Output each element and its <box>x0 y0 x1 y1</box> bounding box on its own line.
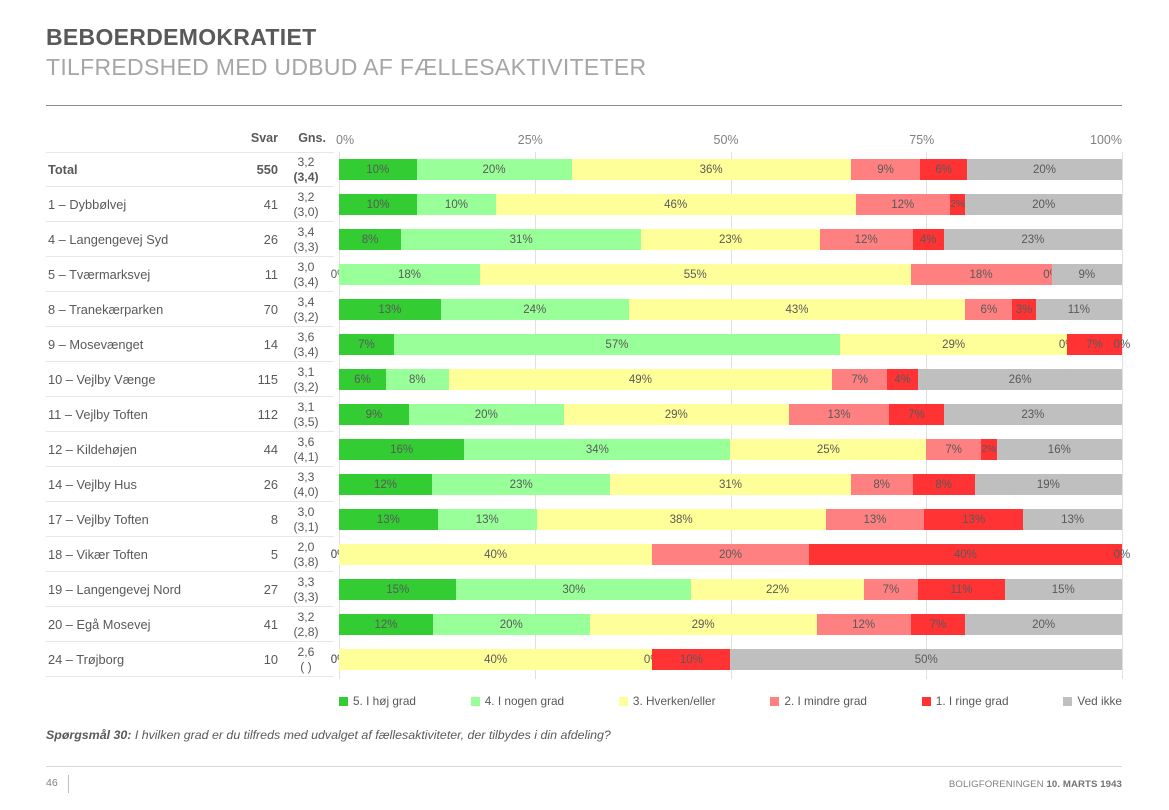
bar-segment-label: 36% <box>700 164 723 176</box>
stacked-bar: 13%13%38%13%13%13% <box>339 509 1122 530</box>
row-label: 11 – Vejlby Toften <box>48 397 230 432</box>
x-axis-tick-0: 0% <box>336 133 354 147</box>
bar-segment-s3: 46% <box>496 194 856 215</box>
row-label: 18 – Vikær Toften <box>48 537 230 572</box>
bar-segment-s5: 7% <box>339 334 394 355</box>
row-response-count: 10 <box>230 642 278 677</box>
bar-segment-label: 16% <box>1048 444 1071 456</box>
chart-rows: Total5503,2(3,4)10%20%36%9%6%20%1 – Dybb… <box>0 152 1169 677</box>
row-response-count: 26 <box>230 222 278 257</box>
row-average-current: 3,2 <box>298 155 315 169</box>
bar-segment-s3: 43% <box>629 299 966 320</box>
bar-segment-svedikke: 9% <box>1052 264 1122 285</box>
question-number: Spørgsmål 30: <box>46 728 131 742</box>
stacked-bar: 6%8%49%7%4%26% <box>339 369 1122 390</box>
bar-segment-label: 15% <box>1052 584 1075 596</box>
bar-segment-s1: 3% <box>1012 299 1035 320</box>
row-label: 5 – Tværmarksvej <box>48 257 230 292</box>
bar-segment-label: 10% <box>680 654 703 666</box>
bar-segment-label: 20% <box>500 619 523 631</box>
x-axis-tick-25: 25% <box>518 133 543 147</box>
bar-segment-s4: 20% <box>417 159 572 180</box>
page-number: 46 <box>46 777 58 789</box>
bar-segment-s1: 10% <box>652 649 730 670</box>
row-average-current: 3,4 <box>298 295 315 309</box>
row-average-previous: (2,8) <box>293 625 318 639</box>
row-average-current: 3,3 <box>298 575 315 589</box>
bar-segment-s5: 6% <box>339 369 386 390</box>
row-label: 19 – Langengevej Nord <box>48 572 230 607</box>
row-average: 3,2(2,8) <box>286 607 326 642</box>
bar-segment-s3: 40% <box>339 544 652 565</box>
bar-segment-label: 3% <box>1016 304 1033 316</box>
bar-segment-s3: 22% <box>691 579 863 600</box>
row-average-previous: (3,3) <box>293 590 318 604</box>
legend-label: 5. I høj grad <box>353 694 416 708</box>
row-average: 3,0(3,1) <box>286 502 326 537</box>
bar-segment-s4: 13% <box>438 509 537 530</box>
row-average-current: 3,6 <box>298 330 315 344</box>
row-label: 9 – Mosevænget <box>48 327 230 362</box>
bar-segment-label: 20% <box>1032 199 1055 211</box>
row-label: 1 – Dybbølvej <box>48 187 230 222</box>
bar-segment-label: 7% <box>930 619 947 631</box>
row-response-count: 70 <box>230 292 278 327</box>
row-average-current: 3,0 <box>298 260 315 274</box>
bar-segment-label: 30% <box>562 584 585 596</box>
bar-segment-s3: 31% <box>610 474 850 495</box>
stacked-bar: 10%10%46%12%2%20% <box>339 194 1122 215</box>
bar-segment-label: 34% <box>586 444 609 456</box>
bar-segment-svedikke: 23% <box>944 404 1122 425</box>
chart-legend: 5. I høj grad4. I nogen grad3. Hverken/e… <box>339 694 1122 708</box>
row-average-previous: (3,2) <box>293 380 318 394</box>
bar-segment-s1: 11% <box>918 579 1004 600</box>
row-average-current: 3,1 <box>298 365 315 379</box>
footer-brand-light: BOLIGFORENINGEN <box>949 779 1047 790</box>
stacked-bar: 0%0%40%0%10%50% <box>339 649 1122 670</box>
table-row: 24 – Trøjborg102,6( )0%0%40%0%10%50% <box>0 642 1169 677</box>
bar-segment-s5: 10% <box>339 159 417 180</box>
stacked-bar: 8%31%23%12%4%23% <box>339 229 1122 250</box>
bar-segment-s3: 29% <box>564 404 789 425</box>
table-row: 11 – Vejlby Toften1123,1(3,5)9%20%29%13%… <box>0 397 1169 432</box>
bar-segment-s5: 15% <box>339 579 456 600</box>
bar-segment-s4: 20% <box>409 404 564 425</box>
row-response-count: 112 <box>230 397 278 432</box>
bar-segment-s1: 40% <box>809 544 1122 565</box>
bar-segment-s4: 24% <box>441 299 629 320</box>
bar-segment-label: 25% <box>817 444 840 456</box>
bar-segment-label: 49% <box>629 374 652 386</box>
row-response-count: 14 <box>230 327 278 362</box>
bar-segment-s2: 12% <box>820 229 913 250</box>
bar-segment-label: 11% <box>950 584 972 596</box>
row-average-current: 3,3 <box>298 470 315 484</box>
row-label: 8 – Tranekærparken <box>48 292 230 327</box>
bar-segment-label: 11% <box>1068 304 1090 316</box>
bar-segment-label: 13% <box>828 409 851 421</box>
row-response-count: 115 <box>230 362 278 397</box>
bar-segment-label: 23% <box>1021 234 1044 246</box>
legend-label: 2. I mindre grad <box>784 694 867 708</box>
row-average-previous: (3,4) <box>293 275 318 289</box>
bar-segment-s4: 23% <box>432 474 610 495</box>
bar-segment-label: 7% <box>851 374 868 386</box>
bar-segment-label: 12% <box>855 234 878 246</box>
bar-segment-svedikke: 20% <box>965 194 1122 215</box>
column-header-gns: Gns. <box>288 131 326 145</box>
legend-item[interactable]: Ved ikke <box>1063 694 1122 708</box>
bar-segment-label: 7% <box>908 409 925 421</box>
bar-segment-svedikke: 11% <box>1036 299 1122 320</box>
row-average: 2,6( ) <box>286 642 326 677</box>
bar-segment-label: 6% <box>935 164 952 176</box>
bar-segment-label: 9% <box>877 164 894 176</box>
row-response-count: 41 <box>230 187 278 222</box>
bar-segment-label: 6% <box>981 304 998 316</box>
bar-segment-label: 9% <box>366 409 383 421</box>
bar-segment-s3: 38% <box>537 509 826 530</box>
bar-segment-s5: 12% <box>339 474 432 495</box>
bar-segment-s4: 18% <box>339 264 480 285</box>
bar-segment-label: 29% <box>692 619 715 631</box>
table-row: 12 – Kildehøjen443,6(4,1)16%34%25%7%2%16… <box>0 432 1169 467</box>
row-label: 12 – Kildehøjen <box>48 432 230 467</box>
row-average-previous: (3,0) <box>293 205 318 219</box>
bar-segment-label: 38% <box>670 514 693 526</box>
footer-vertical-rule <box>68 775 69 793</box>
bar-segment-label: 13% <box>476 514 499 526</box>
row-response-count: 41 <box>230 607 278 642</box>
question-footnote: Spørgsmål 30: I hvilken grad er du tilfr… <box>46 728 611 742</box>
table-row: 17 – Vejlby Toften83,0(3,1)13%13%38%13%1… <box>0 502 1169 537</box>
bar-segment-label: 7% <box>945 444 962 456</box>
bar-segment-label: 23% <box>719 234 742 246</box>
bar-segment-label: 8% <box>935 479 952 491</box>
bar-segment-label: 23% <box>1021 409 1044 421</box>
bar-segment-s2: 7% <box>832 369 887 390</box>
row-average-previous: (3,1) <box>293 520 318 534</box>
bar-segment-s4: 30% <box>456 579 691 600</box>
row-average: 3,4(3,2) <box>286 292 326 327</box>
bar-segment-label: 31% <box>719 479 742 491</box>
bar-segment-s3: 36% <box>572 159 851 180</box>
bar-segment-label: 16% <box>390 444 413 456</box>
bar-segment-svedikke: 15% <box>1005 579 1122 600</box>
bar-segment-svedikke: 20% <box>967 159 1122 180</box>
question-text: I hvilken grad er du tilfreds med udvalg… <box>131 728 610 742</box>
bar-segment-s3: 40% <box>339 649 652 670</box>
row-response-count: 26 <box>230 467 278 502</box>
legend-item[interactable]: 4. I nogen grad <box>471 694 564 708</box>
table-row: 4 – Langengevej Syd263,4(3,3)8%31%23%12%… <box>0 222 1169 257</box>
bar-segment-label: 15% <box>386 584 409 596</box>
bar-segment-s3: 23% <box>641 229 819 250</box>
row-average-current: 3,2 <box>298 190 315 204</box>
row-average: 3,1(3,2) <box>286 362 326 397</box>
bar-segment-label: 29% <box>665 409 688 421</box>
bar-segment-label: 55% <box>684 269 707 281</box>
row-average: 3,2(3,0) <box>286 187 326 222</box>
footer-brand-bold: 10. MARTS 1943 <box>1046 779 1122 790</box>
bar-segment-s5: 10% <box>339 194 417 215</box>
bar-segment-label: 13% <box>378 304 401 316</box>
table-row: Total5503,2(3,4)10%20%36%9%6%20% <box>0 152 1169 187</box>
bar-segment-s5: 13% <box>339 299 441 320</box>
stacked-bar: 15%30%22%7%11%15% <box>339 579 1122 600</box>
row-average: 3,1(3,5) <box>286 397 326 432</box>
legend-label: 3. Hverken/eller <box>633 694 716 708</box>
row-average-current: 3,0 <box>298 505 315 519</box>
row-average-previous: (3,5) <box>293 415 318 429</box>
bar-segment-s5: 8% <box>339 229 401 250</box>
bar-segment-label: 40% <box>484 549 507 561</box>
bar-segment-s1: 7% <box>889 404 943 425</box>
table-row: 1 – Dybbølvej413,2(3,0)10%10%46%12%2%20% <box>0 187 1169 222</box>
bar-segment-label: 0% <box>1114 339 1131 351</box>
bar-segment-label: 6% <box>354 374 371 386</box>
bar-segment-s4: 20% <box>433 614 590 635</box>
row-label: 24 – Trøjborg <box>48 642 230 677</box>
bar-segment-s4: 8% <box>386 369 449 390</box>
bar-segment-label: 7% <box>1086 339 1103 351</box>
row-response-count: 5 <box>230 537 278 572</box>
stacked-bar: 13%24%43%6%3%11% <box>339 299 1122 320</box>
row-response-count: 550 <box>230 152 278 187</box>
row-label: 4 – Langengevej Syd <box>48 222 230 257</box>
bar-segment-label: 12% <box>374 479 397 491</box>
table-row: 10 – Vejlby Vænge1153,1(3,2)6%8%49%7%4%2… <box>0 362 1169 397</box>
bar-segment-s1: 4% <box>887 369 918 390</box>
legend-swatch-icon <box>1063 697 1072 706</box>
x-axis-tick-75: 75% <box>909 133 934 147</box>
bar-segment-label: 22% <box>766 584 789 596</box>
bar-segment-label: 8% <box>409 374 426 386</box>
legend-label: Ved ikke <box>1077 694 1122 708</box>
bar-segment-svedikke: 16% <box>997 439 1122 460</box>
bar-segment-svedikke: 20% <box>965 614 1122 635</box>
row-average-current: 3,4 <box>298 225 315 239</box>
row-average-current: 3,2 <box>298 610 315 624</box>
row-average-current: 3,1 <box>298 400 315 414</box>
bar-segment-s2: 6% <box>965 299 1012 320</box>
bar-segment-label: 46% <box>664 199 687 211</box>
legend-swatch-icon <box>770 697 779 706</box>
bar-segment-s2: 18% <box>911 264 1052 285</box>
row-average-current: 2,0 <box>298 540 315 554</box>
bar-segment-label: 8% <box>873 479 890 491</box>
bar-segment-label: 50% <box>915 654 938 666</box>
row-label: 17 – Vejlby Toften <box>48 502 230 537</box>
stacked-bar: 12%23%31%8%8%19% <box>339 474 1122 495</box>
bar-segment-svedikke: 19% <box>975 474 1122 495</box>
legend-swatch-icon <box>619 697 628 706</box>
bar-segment-s1: 4% <box>913 229 944 250</box>
row-average: 3,3(3,3) <box>286 572 326 607</box>
stacked-bar: 10%20%36%9%6%20% <box>339 159 1122 180</box>
bar-segment-label: 12% <box>891 199 914 211</box>
bar-segment-label: 7% <box>358 339 375 351</box>
legend-swatch-icon <box>471 697 480 706</box>
bar-segment-s2: 8% <box>851 474 913 495</box>
row-average-previous: (3,3) <box>293 240 318 254</box>
bar-segment-label: 40% <box>484 654 507 666</box>
bar-segment-s2: 13% <box>789 404 890 425</box>
row-label: 14 – Vejlby Hus <box>48 467 230 502</box>
bar-segment-s3: 29% <box>590 614 817 635</box>
bar-segment-label: 20% <box>1032 619 1055 631</box>
bar-segment-label: 2% <box>950 199 964 210</box>
row-average-previous: (3,4) <box>293 345 318 359</box>
bar-segment-s5: 9% <box>339 404 409 425</box>
bar-segment-s3: 25% <box>730 439 926 460</box>
bar-segment-s3: 49% <box>449 369 833 390</box>
bar-segment-label: 10% <box>445 199 468 211</box>
bar-segment-s1: 7% <box>911 614 966 635</box>
bar-segment-label: 20% <box>483 164 506 176</box>
bar-segment-svedikke: 26% <box>918 369 1122 390</box>
bar-segment-s2: 7% <box>864 579 919 600</box>
bar-segment-label: 0% <box>1114 549 1131 561</box>
stacked-bar: 7%57%29%0%7%0% <box>339 334 1122 355</box>
row-average-previous: (3,2) <box>293 310 318 324</box>
table-row: 5 – Tværmarksvej113,0(3,4)0%18%55%18%0%9… <box>0 257 1169 292</box>
stacked-bar: 0%18%55%18%0%9% <box>339 264 1122 285</box>
legend-label: 4. I nogen grad <box>485 694 564 708</box>
bar-segment-s5: 13% <box>339 509 438 530</box>
row-average-previous: (4,1) <box>293 450 318 464</box>
row-average-previous: (3,4) <box>293 170 318 184</box>
table-row: 9 – Mosevænget143,6(3,4)7%57%29%0%7%0% <box>0 327 1169 362</box>
legend-label: 1. I ringe grad <box>936 694 1009 708</box>
bar-segment-s1: 2% <box>950 194 966 215</box>
stacked-bar-chart: Svar Gns. 0%25%50%75%100% Total5503,2(3,… <box>0 0 1169 810</box>
bar-segment-svedikke: 50% <box>730 649 1122 670</box>
bar-segment-s4: 31% <box>401 229 641 250</box>
row-average: 3,2(3,4) <box>286 152 326 187</box>
bar-segment-s4: 34% <box>464 439 730 460</box>
bar-segment-label: 2% <box>982 444 996 455</box>
bar-segment-label: 40% <box>954 549 977 561</box>
table-row: 20 – Egå Mosevej413,2(2,8)12%20%29%12%7%… <box>0 607 1169 642</box>
bar-segment-label: 13% <box>962 514 985 526</box>
stacked-bar: 9%20%29%13%7%23% <box>339 404 1122 425</box>
row-average: 3,6(3,4) <box>286 327 326 362</box>
bar-segment-s1: 2% <box>981 439 997 460</box>
row-average: 2,0(3,8) <box>286 537 326 572</box>
bar-segment-label: 29% <box>942 339 965 351</box>
legend-swatch-icon <box>922 697 931 706</box>
row-average-current: 3,6 <box>298 435 315 449</box>
bar-segment-label: 20% <box>719 549 742 561</box>
bar-segment-label: 10% <box>366 164 389 176</box>
row-response-count: 11 <box>230 257 278 292</box>
bar-segment-label: 18% <box>970 269 993 281</box>
bar-segment-label: 4% <box>894 374 911 386</box>
row-average: 3,3(4,0) <box>286 467 326 502</box>
bar-segment-svedikke: 13% <box>1023 509 1122 530</box>
column-header-svar: Svar <box>232 131 278 145</box>
bar-segment-label: 24% <box>523 304 546 316</box>
bar-segment-s2: 20% <box>652 544 809 565</box>
bar-segment-label: 26% <box>1009 374 1032 386</box>
legend-item[interactable]: 5. I høj grad <box>339 694 416 708</box>
row-response-count: 44 <box>230 432 278 467</box>
bar-segment-s2: 9% <box>851 159 921 180</box>
table-row: 14 – Vejlby Hus263,3(4,0)12%23%31%8%8%19… <box>0 467 1169 502</box>
table-row: 8 – Tranekærparken703,4(3,2)13%24%43%6%3… <box>0 292 1169 327</box>
bar-segment-label: 57% <box>605 339 628 351</box>
bar-segment-s5: 12% <box>339 614 433 635</box>
row-average-previous: (3,8) <box>293 555 318 569</box>
row-label: Total <box>48 152 230 187</box>
row-average-previous: ( ) <box>300 660 312 674</box>
bar-segment-label: 19% <box>1037 479 1060 491</box>
bar-segment-label: 9% <box>1078 269 1095 281</box>
bar-segment-label: 12% <box>852 619 875 631</box>
row-average: 3,4(3,3) <box>286 222 326 257</box>
bar-segment-s3: 29% <box>840 334 1067 355</box>
bar-segment-label: 10% <box>367 199 390 211</box>
bar-segment-label: 18% <box>398 269 421 281</box>
bar-segment-s5: 16% <box>339 439 464 460</box>
bar-segment-s2: 12% <box>856 194 950 215</box>
row-average-previous: (4,0) <box>293 485 318 499</box>
x-axis-tick-50: 50% <box>714 133 739 147</box>
row-label: 20 – Egå Mosevej <box>48 607 230 642</box>
bar-segment-label: 4% <box>920 234 937 246</box>
stacked-bar: 16%34%25%7%2%16% <box>339 439 1122 460</box>
bar-segment-s4: 10% <box>417 194 495 215</box>
stacked-bar: 12%20%29%12%7%20% <box>339 614 1122 635</box>
bar-segment-label: 23% <box>510 479 533 491</box>
bar-segment-s1: 13% <box>924 509 1023 530</box>
footer-brand: BOLIGFORENINGEN 10. MARTS 1943 <box>949 779 1122 790</box>
bar-segment-s1: 6% <box>920 159 967 180</box>
row-average: 3,0(3,4) <box>286 257 326 292</box>
footer-divider <box>46 766 1122 767</box>
legend-item[interactable]: 2. I mindre grad <box>770 694 867 708</box>
bar-segment-svedikke: 23% <box>944 229 1122 250</box>
row-label: 10 – Vejlby Vænge <box>48 362 230 397</box>
bar-segment-s2: 7% <box>926 439 981 460</box>
bar-segment-label: 7% <box>883 584 900 596</box>
bar-segment-s2: 12% <box>817 614 911 635</box>
x-axis-tick-100: 100% <box>1090 133 1122 147</box>
row-average: 3,6(4,1) <box>286 432 326 467</box>
stacked-bar: 0%0%40%20%40%0% <box>339 544 1122 565</box>
legend-item[interactable]: 1. I ringe grad <box>922 694 1009 708</box>
bar-segment-label: 31% <box>510 234 533 246</box>
table-row: 18 – Vikær Toften52,0(3,8)0%0%40%20%40%0… <box>0 537 1169 572</box>
bar-segment-s1: 8% <box>913 474 975 495</box>
row-average-current: 2,6 <box>298 645 315 659</box>
bar-segment-label: 13% <box>377 514 400 526</box>
bar-segment-s4: 57% <box>394 334 840 355</box>
legend-item[interactable]: 3. Hverken/eller <box>619 694 716 708</box>
bar-segment-label: 20% <box>1033 164 1056 176</box>
bar-segment-label: 12% <box>374 619 397 631</box>
row-response-count: 8 <box>230 502 278 537</box>
bar-segment-label: 13% <box>863 514 886 526</box>
legend-swatch-icon <box>339 697 348 706</box>
bar-segment-label: 13% <box>1061 514 1084 526</box>
table-row: 19 – Langengevej Nord273,3(3,3)15%30%22%… <box>0 572 1169 607</box>
bar-segment-s3: 55% <box>480 264 911 285</box>
bar-segment-s2: 13% <box>826 509 925 530</box>
row-response-count: 27 <box>230 572 278 607</box>
